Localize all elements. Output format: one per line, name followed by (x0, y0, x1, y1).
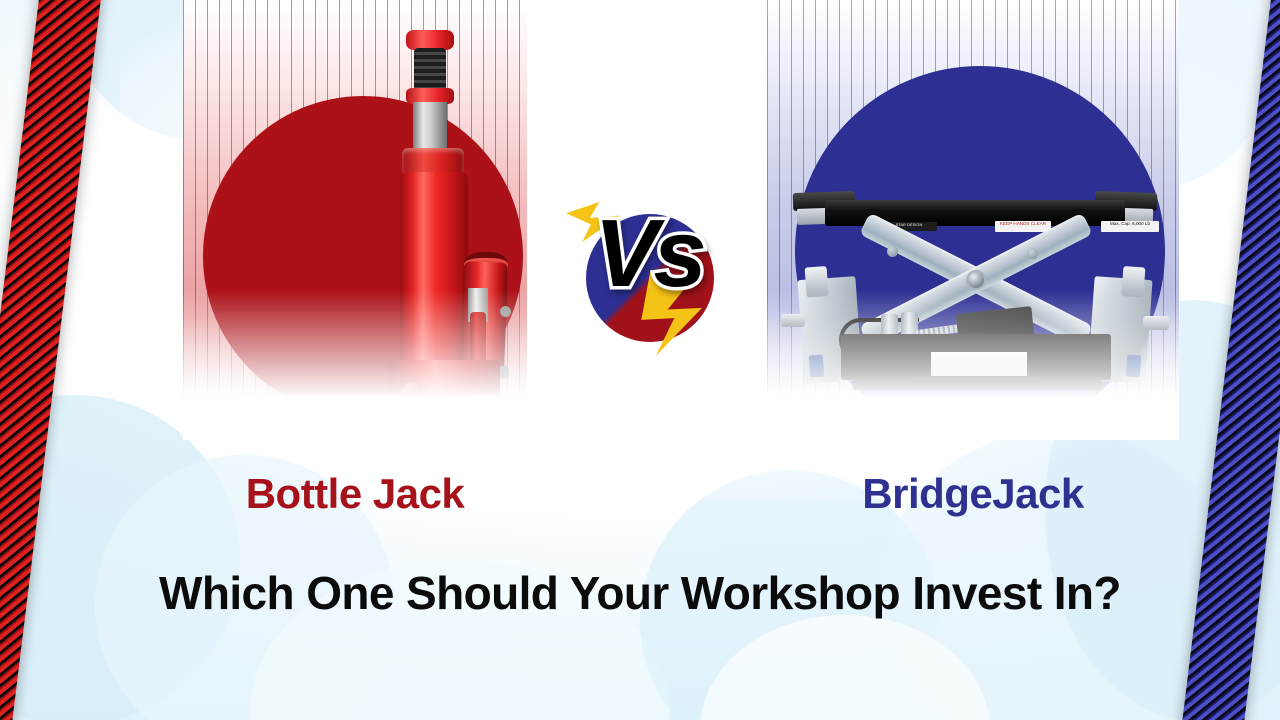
right-product-caption: BridgeJack (767, 470, 1179, 518)
jack-bellows (414, 48, 446, 92)
jack-ram (413, 102, 447, 154)
versus-badge: Vs (558, 196, 738, 376)
right-product-panel: STAR DESIGN KEEP HANDS CLEAR Max. Cap. 6… (767, 0, 1179, 440)
right-panel-fade (767, 290, 1179, 440)
left-product-caption: Bottle Jack (183, 470, 527, 518)
poster-canvas: STAR DESIGN KEEP HANDS CLEAR Max. Cap. 6… (0, 0, 1280, 720)
versus-label: Vs (558, 206, 738, 302)
scissor-rivet (1027, 248, 1038, 259)
scissor-center-pivot (966, 270, 986, 290)
page-title: Which One Should Your Workshop Invest In… (0, 566, 1280, 620)
left-panel-fade (183, 290, 527, 440)
jack-release-cap (406, 30, 454, 50)
scissor-rivet (887, 246, 898, 257)
left-product-panel (183, 0, 527, 440)
